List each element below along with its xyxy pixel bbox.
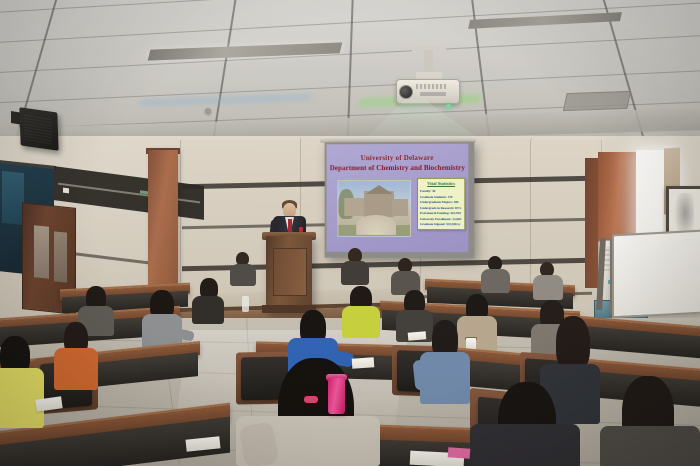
photo-building-wing — [392, 199, 408, 216]
projector-status-led — [446, 104, 451, 109]
handout-paper — [352, 357, 375, 369]
attendee-body — [600, 426, 700, 466]
lecture-hall-photo: University of Delaware Department of Che… — [0, 0, 700, 466]
left-window-pane — [2, 171, 24, 225]
speaker-grill — [24, 114, 52, 145]
vital-stat-line: Faculty: 36 — [420, 189, 464, 193]
projector-label — [420, 92, 446, 96]
attendee-body — [457, 316, 497, 352]
pink-thermos-cup[interactable] — [328, 378, 345, 414]
slide-campus-photo — [337, 180, 411, 237]
attendee-arm — [412, 359, 431, 391]
projection-screen[interactable]: University of Delaware Department of Che… — [325, 142, 475, 259]
attendee-body — [230, 264, 256, 286]
hair-tie — [304, 396, 318, 403]
vital-stat-line: University Enrollment: 22,000 — [420, 217, 464, 221]
vital-stat-line: Graduate Students: 170 — [420, 194, 464, 198]
vital-stat-line: Extramural Funding: $10.5M — [420, 211, 464, 215]
pink-note — [448, 447, 471, 459]
attendee-body — [481, 269, 510, 293]
photo-building-wing — [344, 198, 366, 216]
projector-vent — [416, 84, 446, 89]
photo-walkway — [356, 215, 396, 235]
photo-building-main — [364, 191, 394, 217]
whiteboard[interactable] — [612, 230, 700, 319]
attendee-body — [533, 275, 563, 300]
wall-fixture — [63, 188, 69, 194]
attendee-body — [0, 368, 44, 428]
podium-front-panel — [273, 248, 307, 296]
slide-title-line-2: Department of Chemistry and Biochemistry — [327, 164, 469, 172]
slide-vital-statistics-box: Vital Statistics Faculty: 36 Graduate St… — [417, 178, 465, 230]
projector-lens-icon — [399, 85, 413, 99]
ceiling-vent — [563, 91, 631, 111]
attendee-body — [342, 306, 380, 338]
attendee-body — [341, 261, 369, 285]
door-glass-panel — [34, 225, 49, 279]
vital-stat-line: Undergrads in Research: 85% — [420, 206, 464, 210]
vital-stat-line: Graduate Stipend: $25,500/yr — [420, 222, 464, 226]
door-glass-panel — [54, 231, 67, 282]
slide-title-line-1: University of Delaware — [327, 154, 469, 163]
attendee-body — [470, 424, 580, 466]
vital-statistics-heading: Vital Statistics — [418, 181, 464, 186]
sprinkler-head-icon — [205, 108, 211, 114]
attendee-body — [192, 296, 224, 324]
attendee-body — [54, 348, 98, 390]
water-bottle — [242, 296, 249, 312]
presentation-slide: University of Delaware Department of Che… — [327, 144, 469, 253]
handout-paper — [408, 331, 427, 341]
vital-stat-line: Undergraduate Majors: 300 — [420, 200, 464, 204]
